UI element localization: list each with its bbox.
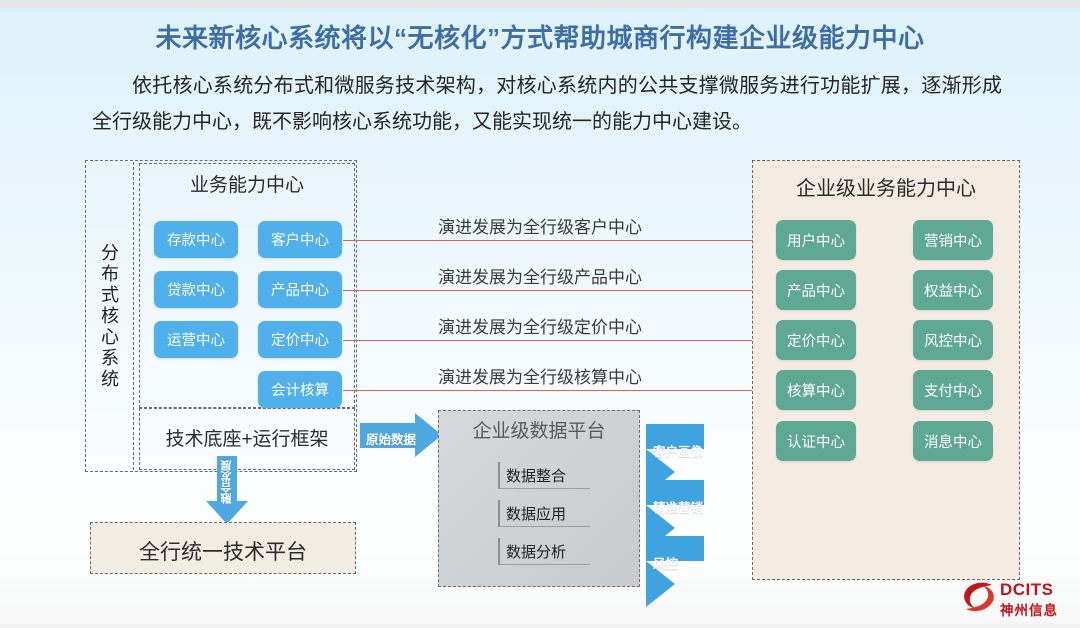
- raw-data-label: 原始数据: [366, 429, 416, 448]
- output-arrow-customer-profile: 客户画像: [646, 424, 732, 470]
- evolution-label-accounting: 演进发展为全行级核算中心: [438, 363, 642, 388]
- chip-payment-center[interactable]: 支付中心: [913, 370, 993, 410]
- chip-rights-center[interactable]: 权益中心: [913, 270, 993, 310]
- chip-ent-product-center[interactable]: 产品中心: [776, 270, 856, 310]
- chip-ent-accounting-center[interactable]: 核算中心: [776, 370, 856, 410]
- evolution-arrow-customer-line: [343, 240, 757, 241]
- chip-product-center[interactable]: 产品中心: [258, 271, 342, 308]
- core-label-divider: [133, 162, 134, 470]
- brand-name-en: DCITS: [1000, 580, 1054, 600]
- chip-marketing-center[interactable]: 营销中心: [913, 220, 993, 260]
- output-label-precision-marketing: 精准营销: [653, 497, 703, 516]
- output-label-customer-profile: 客户画像: [653, 441, 703, 460]
- data-item-application[interactable]: 数据应用: [498, 500, 590, 527]
- page-title: 未来新核心系统将以“无核化”方式帮助城商行构建企业级能力中心: [0, 18, 1080, 55]
- chip-customer-center[interactable]: 客户中心: [258, 221, 342, 258]
- data-item-integration[interactable]: 数据整合: [498, 462, 590, 489]
- chip-pricing-center[interactable]: 定价中心: [258, 321, 342, 358]
- slide-canvas: 未来新核心系统将以“无核化”方式帮助城商行构建企业级能力中心 依托核心系统分布式…: [0, 0, 1080, 628]
- chip-auth-center[interactable]: 认证中心: [776, 421, 856, 461]
- brand-name-cn: 神州信息: [1000, 599, 1058, 619]
- evolution-arrow-accounting-line: [343, 390, 757, 391]
- raw-data-arrow: 原始数据: [360, 413, 442, 458]
- evolution-label-customer: 演进发展为全行级客户中心: [438, 213, 642, 238]
- output-arrow-risk-control: 风控: [646, 536, 732, 582]
- distributed-core-system-label: 分布式核心系统: [85, 160, 133, 472]
- arrow-head: [206, 501, 248, 524]
- merge-development-arrow: 融合发展: [206, 456, 248, 524]
- chip-risk-center[interactable]: 风控中心: [913, 320, 993, 360]
- unified-tech-platform-label: 全行统一技术平台: [90, 536, 356, 566]
- chip-loan-center[interactable]: 贷款中心: [154, 271, 238, 308]
- chip-user-center[interactable]: 用户中心: [776, 220, 856, 260]
- evolution-label-product: 演进发展为全行级产品中心: [438, 263, 642, 288]
- evolution-arrow-pricing-line: [343, 340, 757, 341]
- output-arrow-precision-marketing: 精准营销: [646, 480, 732, 526]
- page-subtitle: 依托核心系统分布式和微服务技术架构，对核心系统内的公共支撑微服务进行功能扩展，逐…: [92, 68, 1002, 140]
- evolution-label-pricing: 演进发展为全行级定价中心: [438, 313, 642, 338]
- evolution-arrow-product-line: [343, 290, 757, 291]
- chip-ent-pricing-center[interactable]: 定价中心: [776, 320, 856, 360]
- data-item-analysis[interactable]: 数据分析: [498, 538, 590, 565]
- merge-development-label: 融合发展: [217, 460, 237, 504]
- output-label-risk-control: 风控: [653, 553, 678, 572]
- chip-message-center[interactable]: 消息中心: [913, 421, 993, 461]
- brand-logo: DCITS 神州信息: [962, 578, 1074, 622]
- dcits-swoosh-icon: [962, 582, 996, 612]
- chip-operation-center[interactable]: 运营中心: [154, 321, 238, 358]
- enterprise-capability-center-title: 企业级业务能力中心: [752, 172, 1020, 201]
- chip-deposit-center[interactable]: 存款中心: [154, 221, 238, 258]
- business-capability-center-title: 业务能力中心: [139, 170, 355, 197]
- enterprise-data-platform-title: 企业级数据平台: [438, 416, 640, 443]
- tech-base-label: 技术底座+运行框架: [139, 424, 355, 451]
- chip-accounting[interactable]: 会计核算: [258, 371, 342, 408]
